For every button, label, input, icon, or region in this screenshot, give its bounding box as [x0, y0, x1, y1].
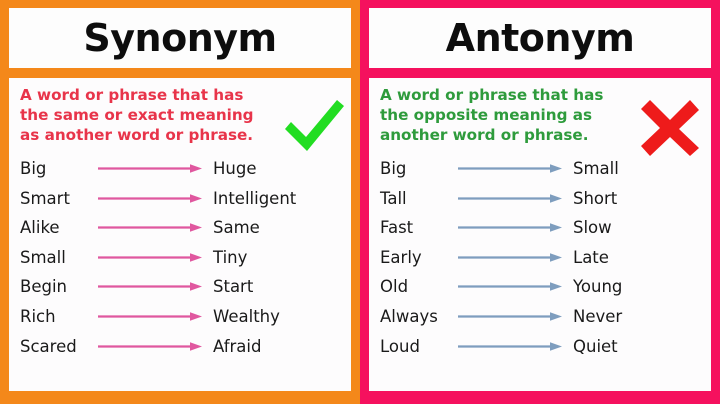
- pair-row: Small Tiny: [20, 242, 342, 272]
- antonym-body: A word or phrase that has the opposite m…: [369, 78, 711, 391]
- pair-source-word: Small: [20, 248, 98, 267]
- pair-target-word: Same: [213, 218, 342, 237]
- arrow-right-icon: [458, 281, 573, 292]
- pair-target-word: Huge: [213, 159, 342, 178]
- pair-row: Tall Short: [380, 183, 702, 213]
- pair-row: Scared Afraid: [20, 331, 342, 361]
- pair-source-word: Early: [380, 248, 458, 267]
- pair-target-word: Never: [573, 307, 702, 326]
- pair-target-word: Wealthy: [213, 307, 342, 326]
- pair-source-word: Big: [20, 159, 98, 178]
- antonym-title-box: Antonym: [369, 8, 711, 68]
- arrow-right-icon: [98, 193, 213, 204]
- arrow-right-icon: [98, 341, 213, 352]
- comparison-board: Synonym A word or phrase that has the sa…: [0, 0, 720, 404]
- pair-row: Rich Wealthy: [20, 302, 342, 332]
- arrow-right-icon: [458, 193, 573, 204]
- pair-source-word: Tall: [380, 189, 458, 208]
- synonym-body: A word or phrase that has the same or ex…: [9, 78, 351, 391]
- panel-antonym: Antonym A word or phrase that has the op…: [360, 0, 720, 404]
- pair-target-word: Intelligent: [213, 189, 342, 208]
- pair-target-word: Slow: [573, 218, 702, 237]
- pair-source-word: Rich: [20, 307, 98, 326]
- pair-row: Smart Intelligent: [20, 183, 342, 213]
- pair-source-word: Loud: [380, 337, 458, 356]
- pair-source-word: Begin: [20, 277, 98, 296]
- pair-target-word: Start: [213, 277, 342, 296]
- pair-target-word: Short: [573, 189, 702, 208]
- pair-row: Old Young: [380, 272, 702, 302]
- pair-source-word: Fast: [380, 218, 458, 237]
- pair-source-word: Old: [380, 277, 458, 296]
- pair-source-word: Big: [380, 159, 458, 178]
- pair-row: Begin Start: [20, 272, 342, 302]
- pair-row: Big Small: [380, 154, 702, 184]
- arrow-right-icon: [98, 281, 213, 292]
- arrow-right-icon: [98, 222, 213, 233]
- arrow-right-icon: [98, 252, 213, 263]
- antonym-pair-list: Big Small Tall: [380, 154, 702, 361]
- pair-target-word: Small: [573, 159, 702, 178]
- pair-row: Loud Quiet: [380, 331, 702, 361]
- pair-target-word: Late: [573, 248, 702, 267]
- pair-source-word: Alike: [20, 218, 98, 237]
- arrow-right-icon: [458, 341, 573, 352]
- pair-source-word: Smart: [20, 189, 98, 208]
- synonym-title-box: Synonym: [9, 8, 351, 68]
- arrow-right-icon: [98, 311, 213, 322]
- antonym-definition: A word or phrase that has the opposite m…: [380, 85, 632, 146]
- pair-target-word: Tiny: [213, 248, 342, 267]
- pair-row: Alike Same: [20, 213, 342, 243]
- green-check-icon: [281, 96, 347, 158]
- arrow-right-icon: [458, 311, 573, 322]
- arrow-right-icon: [458, 252, 573, 263]
- pair-row: Fast Slow: [380, 213, 702, 243]
- page-title-antonym: Antonym: [446, 19, 635, 57]
- pair-target-word: Young: [573, 277, 702, 296]
- panel-synonym: Synonym A word or phrase that has the sa…: [0, 0, 360, 404]
- pair-row: Big Huge: [20, 154, 342, 184]
- arrow-right-icon: [98, 163, 213, 174]
- pair-row: Early Late: [380, 242, 702, 272]
- synonym-pair-list: Big Huge Smart: [20, 154, 342, 361]
- page-title-synonym: Synonym: [83, 19, 276, 57]
- pair-row: Always Never: [380, 302, 702, 332]
- pair-source-word: Scared: [20, 337, 98, 356]
- pair-target-word: Afraid: [213, 337, 342, 356]
- arrow-right-icon: [458, 222, 573, 233]
- red-cross-icon: [639, 98, 701, 158]
- arrow-right-icon: [458, 163, 573, 174]
- pair-target-word: Quiet: [573, 337, 702, 356]
- pair-source-word: Always: [380, 307, 458, 326]
- synonym-definition: A word or phrase that has the same or ex…: [20, 85, 272, 146]
